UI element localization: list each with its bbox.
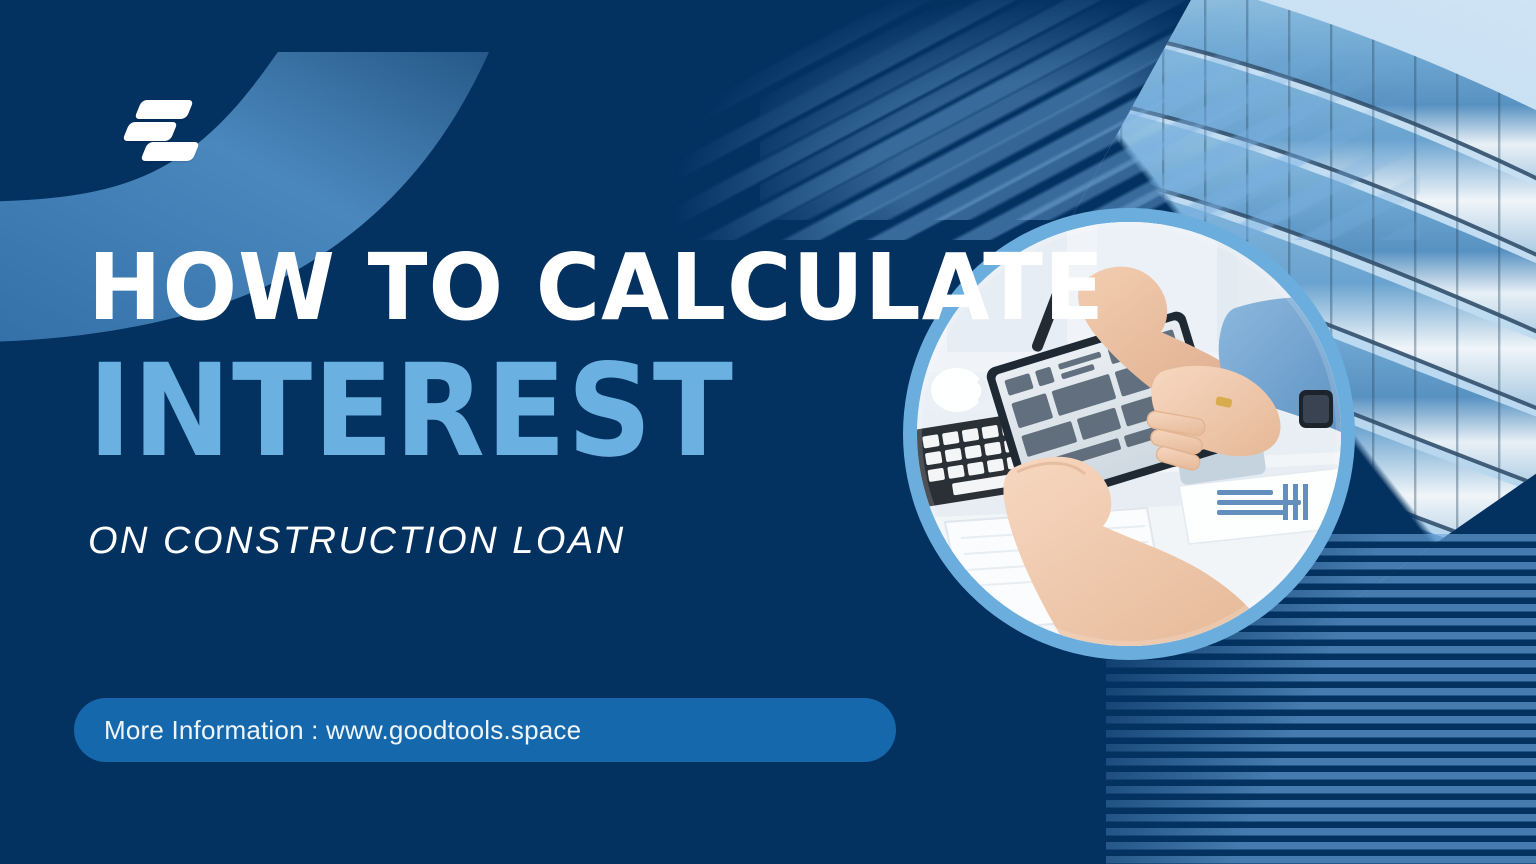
headline-line-1: HOW TO CALCULATE (88, 244, 968, 332)
top-stripe-decor (600, 0, 1420, 240)
logo-bar-top (134, 100, 194, 119)
top-stripe-decor-secondary (760, 0, 1460, 220)
headline-line-2: INTEREST (88, 348, 935, 476)
logo-bar-middle (122, 122, 178, 141)
promo-banner: HOW TO CALCULATE INTEREST ON CONSTRUCTIO… (0, 0, 1536, 864)
headline-block: HOW TO CALCULATE INTEREST ON CONSTRUCTIO… (88, 244, 918, 563)
more-information-bar[interactable]: More Information : www.goodtools.space (74, 698, 896, 762)
headline-subtitle: ON CONSTRUCTION LOAN (88, 520, 918, 563)
brand-logo[interactable] (118, 98, 198, 172)
logo-bar-bottom (140, 142, 200, 161)
more-information-label: More Information : www.goodtools.space (104, 715, 581, 746)
